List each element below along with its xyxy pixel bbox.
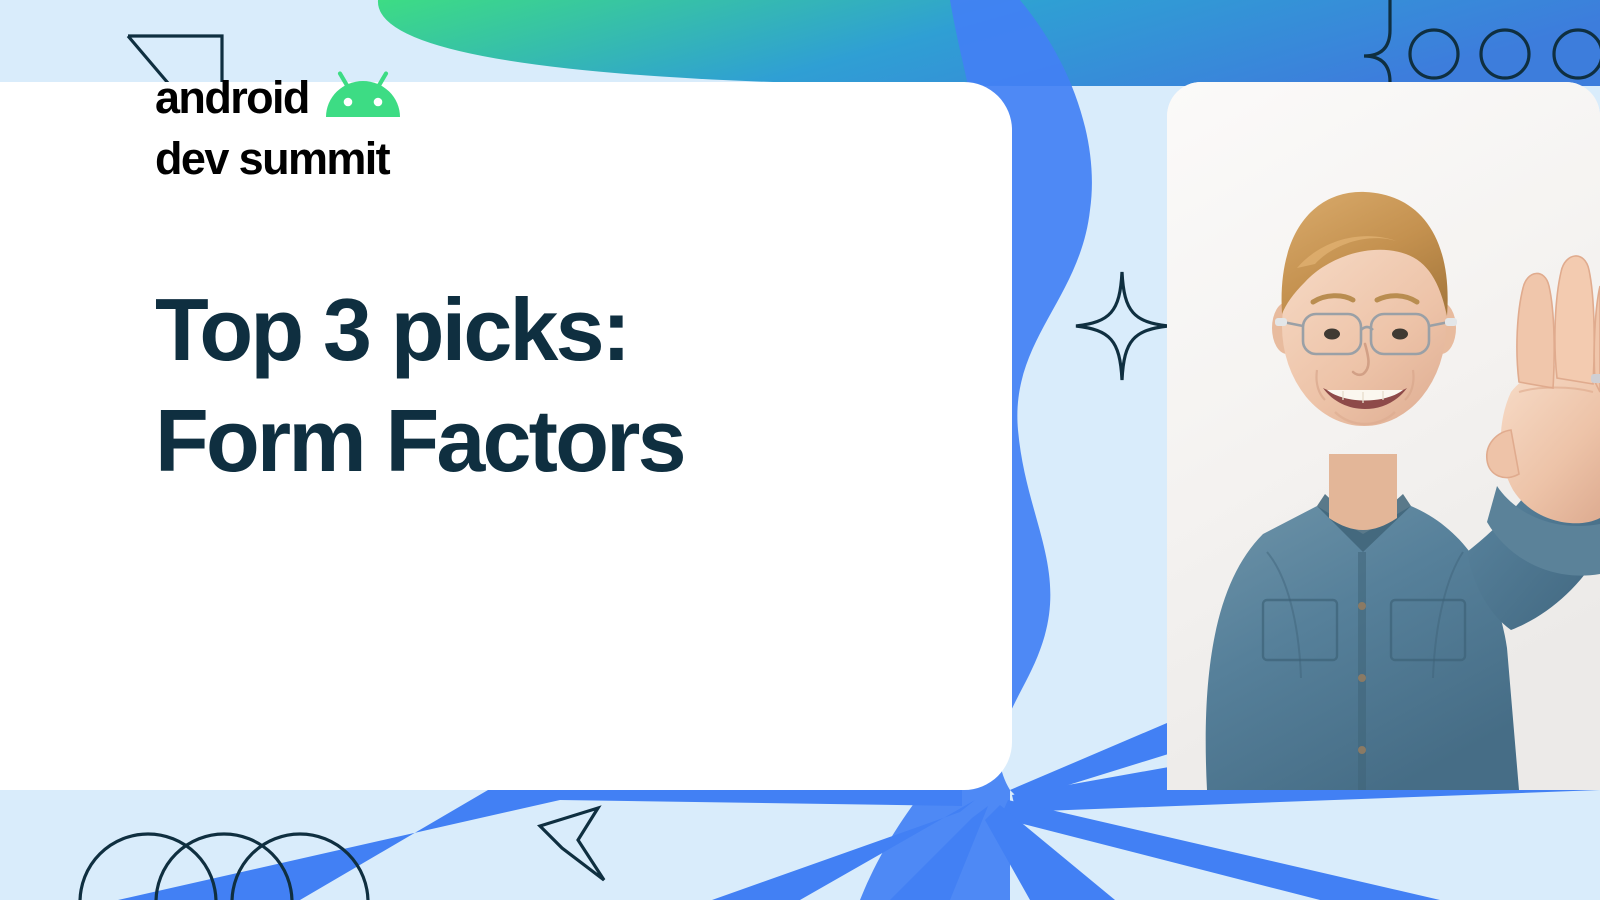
logo-line-1-row: android [155, 75, 403, 120]
headline-line-1: Top 3 picks: [155, 275, 684, 386]
logo-word-dev-summit: dev summit [155, 136, 389, 181]
logo-word-android: android [155, 75, 309, 120]
headline-line-2: Form Factors [155, 386, 684, 497]
android-dev-summit-logo: android dev summit [155, 75, 403, 181]
logo-line-2-row: dev summit [155, 120, 403, 181]
speaker-neck [1329, 454, 1397, 530]
slide-canvas: android dev summit Top 3 picks: Form Fac… [0, 0, 1600, 900]
android-robot-icon [323, 71, 403, 119]
slide-headline: Top 3 picks: Form Factors [155, 275, 684, 497]
speaker-photo [1167, 82, 1600, 790]
speaker-photo-card [1167, 82, 1600, 790]
